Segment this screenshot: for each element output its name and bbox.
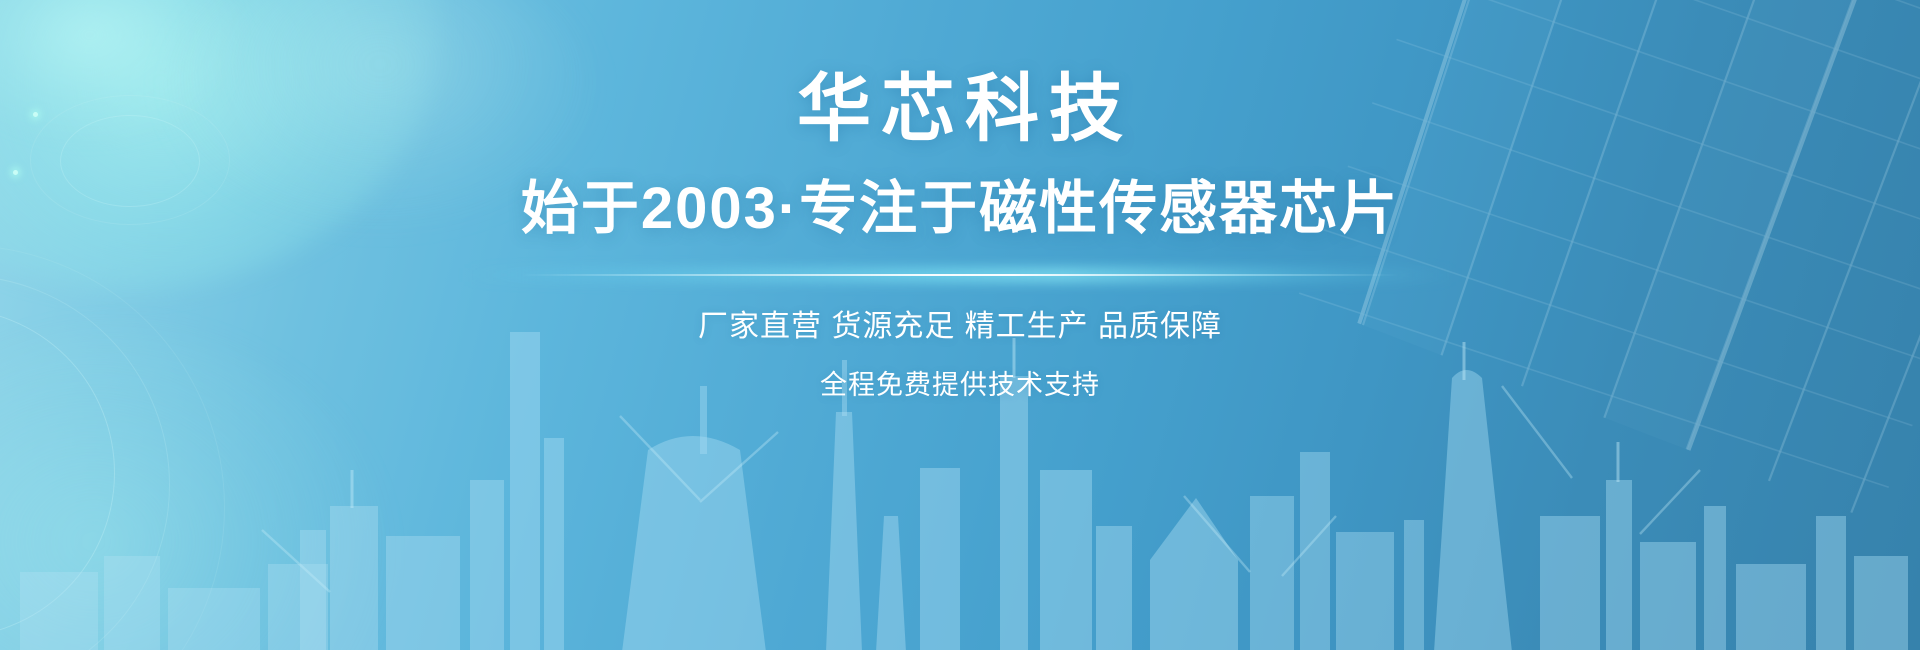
hero-banner: 华芯科技 始于2003·专注于磁性传感器芯片 厂家直营 货源充足 精工生产 品质… <box>0 0 1920 650</box>
banner-tagline: 厂家直营 货源充足 精工生产 品质保障 <box>698 312 1222 342</box>
banner-subtitle: 始于2003·专注于磁性传感器芯片 <box>521 180 1399 238</box>
banner-content: 华芯科技 始于2003·专注于磁性传感器芯片 厂家直营 货源充足 精工生产 品质… <box>0 0 1920 650</box>
banner-support-line: 全程免费提供技术支持 <box>820 372 1100 399</box>
divider-core-line <box>520 274 1400 276</box>
brand-title: 华芯科技 <box>787 72 1133 146</box>
glow-divider <box>520 268 1400 282</box>
